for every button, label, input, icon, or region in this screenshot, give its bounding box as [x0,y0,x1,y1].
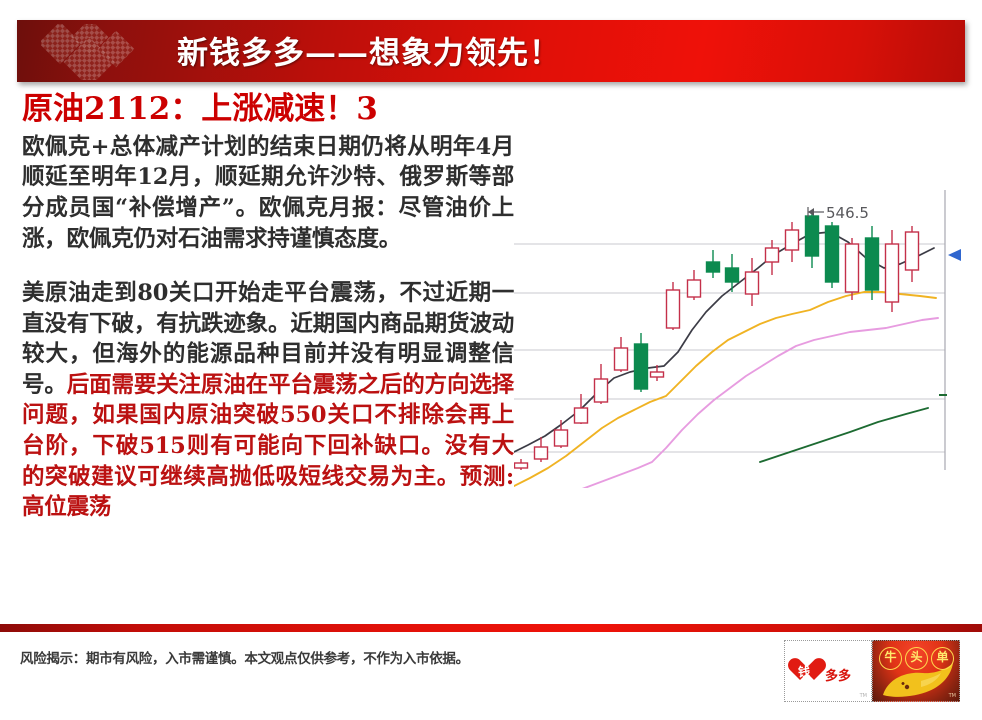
current-price-marker [939,249,961,395]
header-banner: 新钱多多——想象力领先！ [17,20,965,82]
logo-qianduoduo: 钱 多多 TM [784,640,872,702]
candlestick-chart[interactable]: 546.5 [514,178,982,488]
footer-divider [0,624,982,632]
paragraph-spacer [22,254,514,278]
logo-niutoudan-char-2: 单 [931,647,954,670]
logo-qianduoduo-heart-char: 钱 [798,663,810,680]
article-paragraph-2: 美原油走到80关口开始走平台震荡，不过近期一直没有下破，有抗跌迹象。近期国内商品… [22,278,514,523]
banner-title: 新钱多多——想象力领先！ [177,28,561,73]
logo-niutoudan: 牛头单 TM [872,640,960,702]
svg-text:546.5: 546.5 [826,204,869,222]
diamond-lattice-logo-icon [41,24,161,80]
footer-logos: 钱 多多 TM 牛头单 TM [784,640,964,702]
candle-series [515,212,919,470]
logo-qianduoduo-text: 多多 [825,665,851,684]
logo-niutoudan-chars: 牛头单 [879,647,954,670]
logo-niutoudan-char-0: 牛 [879,647,902,670]
footer-disclaimer: 风险揭示：期市有风险，入市需谨慎。本文观点仅供参考，不作为入市依据。 [20,647,469,667]
logo-niutoudan-tm: TM [949,693,956,699]
logo-qianduoduo-tm: TM [860,693,867,699]
article-column: 原油2112：上涨减速！3 欧佩克+总体减产计划的结束日期仍将从明年4月顺延至明… [22,92,514,523]
article-title: 原油2112：上涨减速！3 [22,92,514,127]
slide-root: 新钱多多——想象力领先！ 原油2112：上涨减速！3 欧佩克+总体减产计划的结束… [0,0,982,720]
chart-canvas[interactable]: 546.5 [514,178,982,488]
paragraph-2-red-run: 后面需要关注原油在平台震荡之后的方向选择问题，如果国内原油突破550关口不排除会… [22,372,514,520]
logo-niutoudan-char-1: 头 [905,647,928,670]
article-paragraph-1: 欧佩克+总体减产计划的结束日期仍将从明年4月顺延至明年12月，顺延期允许沙特、俄… [22,132,514,254]
